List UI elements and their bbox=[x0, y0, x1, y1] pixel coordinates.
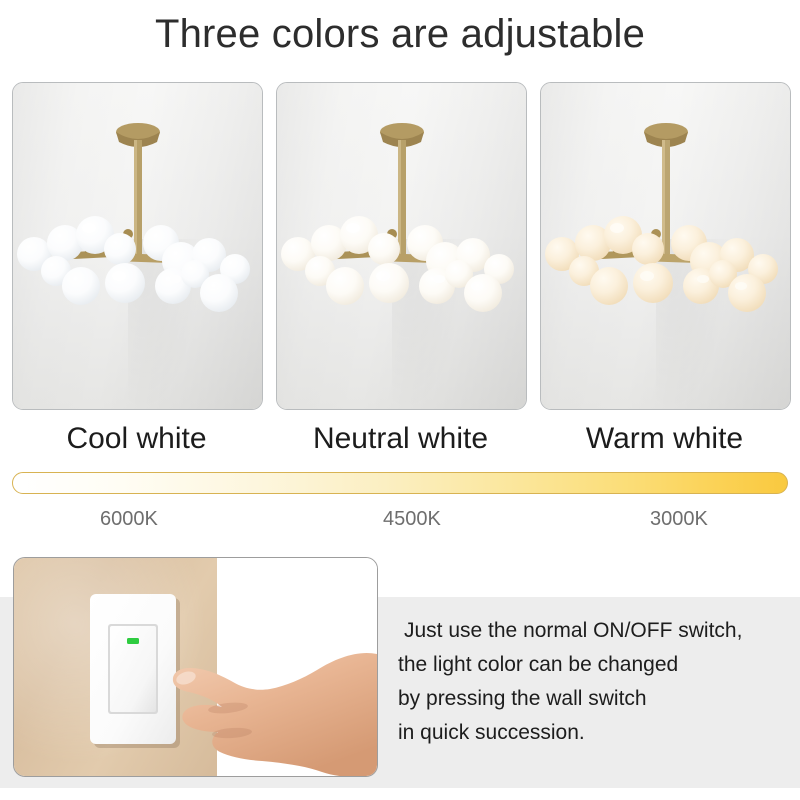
label-warm-white: Warm white bbox=[540, 418, 789, 460]
panel-neutral-white[interactable] bbox=[276, 82, 527, 410]
chandelier-illustration-neutral-white bbox=[277, 83, 526, 409]
kelvin-tick-row: 6000K 4500K 3000K bbox=[0, 505, 800, 533]
switch-and-hand-illustration bbox=[14, 558, 377, 776]
instruction-caption: Just use the normal ON/OFF switch, the l… bbox=[398, 614, 790, 750]
caption-line-3: by pressing the wall switch bbox=[398, 682, 790, 716]
caption-line-1: Just use the normal ON/OFF switch, bbox=[398, 614, 790, 648]
label-neutral-white: Neutral white bbox=[276, 418, 525, 460]
color-temperature-gradient-bar bbox=[12, 472, 788, 494]
caption-line-4: in quick succession. bbox=[398, 716, 790, 750]
wall-switch-photo[interactable] bbox=[13, 557, 378, 777]
kelvin-4500k: 4500K bbox=[383, 505, 441, 533]
chandelier-illustration-cool-white bbox=[13, 83, 262, 409]
panel-cool-white[interactable] bbox=[12, 82, 263, 410]
temperature-bar-wrap bbox=[0, 468, 800, 502]
panel-warm-white[interactable] bbox=[540, 82, 791, 410]
color-panel-row bbox=[0, 82, 800, 408]
label-cool-white: Cool white bbox=[12, 418, 261, 460]
chandelier-illustration-warm-white bbox=[541, 83, 790, 409]
page-title: Three colors are adjustable bbox=[0, 6, 800, 62]
caption-line-2: the light color can be changed bbox=[398, 648, 790, 682]
kelvin-6000k: 6000K bbox=[100, 505, 158, 533]
kelvin-3000k: 3000K bbox=[650, 505, 708, 533]
color-label-row: Cool white Neutral white Warm white bbox=[0, 418, 800, 460]
